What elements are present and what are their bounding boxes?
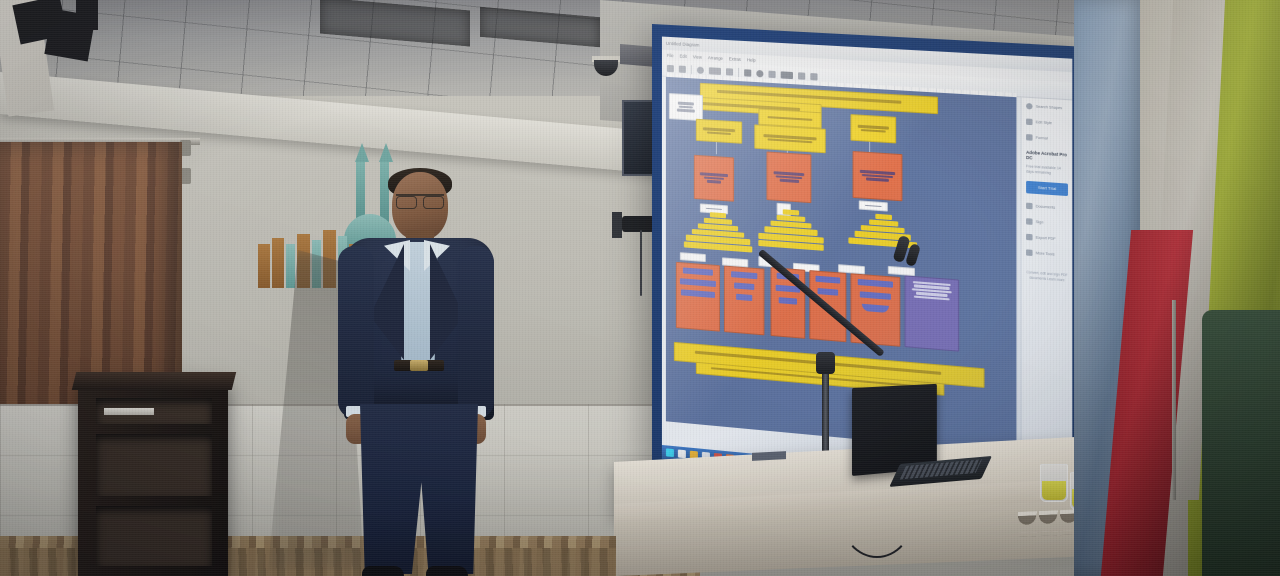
panel-row-search[interactable]: Search Shapes [1026, 103, 1068, 112]
diagram-node[interactable] [853, 151, 903, 201]
hanging-bracket [76, 0, 98, 30]
app-right-panel[interactable]: Search Shapes Edit Style Format Adobe Ac… [1021, 97, 1073, 459]
waypoints-icon[interactable] [769, 70, 776, 77]
redo-icon[interactable] [679, 65, 686, 72]
export-icon [1026, 233, 1032, 240]
shelf-compartment [96, 506, 212, 566]
more-icon [1026, 249, 1032, 256]
drink-cup[interactable] [1040, 464, 1068, 502]
pyramid-cluster[interactable] [684, 210, 752, 255]
power-cable [840, 474, 914, 558]
undo-icon[interactable] [667, 64, 674, 71]
department-column[interactable] [905, 275, 960, 351]
connector-label[interactable] [859, 200, 888, 211]
panel-row-style[interactable]: Edit Style [1026, 119, 1068, 128]
diagram-node[interactable] [754, 124, 825, 153]
arm-left [338, 246, 374, 418]
flag-pole [1172, 300, 1176, 500]
search-icon [1026, 103, 1032, 110]
signature-icon [1026, 218, 1032, 225]
panel-row-label: Edit Style [1036, 120, 1052, 125]
photo-scene: Untitled Diagram File Edit View Arrange … [0, 0, 1280, 576]
panel-row-label: Search Shapes [1036, 105, 1062, 111]
menu-view[interactable]: View [693, 54, 702, 60]
fill-color-icon[interactable] [709, 67, 721, 75]
shelf-top [72, 372, 236, 390]
shelf-item [104, 408, 154, 415]
menu-extras[interactable]: Extras [729, 56, 741, 62]
connector-label[interactable] [680, 252, 706, 262]
department-column[interactable] [724, 266, 764, 336]
bracket-plate [612, 212, 622, 238]
shoe-left [362, 566, 404, 576]
panel-link-label: Documents [1036, 204, 1056, 210]
cup-contents [1042, 481, 1066, 500]
connection-icon[interactable] [756, 69, 763, 76]
menu-help[interactable]: Help [747, 57, 756, 63]
department-column[interactable] [676, 262, 720, 332]
panel-link-more[interactable]: More Tools [1026, 249, 1068, 258]
zoom-icon[interactable] [697, 66, 704, 73]
diagram-node[interactable] [766, 151, 811, 203]
shape-palette[interactable] [669, 93, 703, 121]
panel-link-label: Export PDF [1036, 235, 1056, 241]
start-icon[interactable] [666, 448, 674, 457]
search-icon[interactable] [678, 449, 686, 458]
panel-row-label: Format [1036, 136, 1048, 141]
presenter [336, 168, 496, 576]
panel-link-export[interactable]: Export PDF [1026, 233, 1068, 242]
diagram-connector [716, 142, 717, 154]
arm-right [458, 246, 494, 418]
panel-heading: Adobe Acrobat Pro DC [1026, 150, 1068, 163]
menu-file[interactable]: File [667, 52, 674, 57]
shelf-compartment [96, 434, 212, 496]
shadow-icon[interactable] [744, 69, 751, 76]
microphone-pole [822, 360, 829, 460]
app-title: Untitled Diagram [666, 41, 699, 48]
panel-link-label: More Tools [1036, 251, 1055, 257]
shoe-right [426, 566, 468, 576]
dark-green-chair [1202, 310, 1280, 576]
eyeglasses [396, 194, 444, 207]
diagram-node[interactable] [696, 119, 742, 144]
diagram-node[interactable] [850, 114, 896, 143]
menu-arrange[interactable]: Arrange [708, 55, 723, 61]
panel-footer: Convert, edit and sign PDF documents Lea… [1026, 270, 1068, 284]
format-icon [1026, 134, 1032, 141]
connector-label[interactable] [888, 266, 915, 276]
wall-bracket [622, 216, 656, 232]
panel-subtext: Free trial available 14 days remaining [1026, 164, 1068, 178]
panel-link-label: Sign [1036, 219, 1044, 224]
document-icon [1026, 202, 1032, 209]
pyramid-cluster[interactable] [758, 208, 823, 259]
table-icon[interactable] [810, 73, 817, 81]
insert-icon[interactable] [798, 72, 805, 80]
style-icon[interactable] [781, 71, 793, 79]
lock-icon [1026, 119, 1032, 126]
panel-link-sign[interactable]: Sign [1026, 218, 1068, 227]
diagram-canvas[interactable] [666, 77, 1017, 454]
toolbar-separator [691, 65, 692, 74]
trousers [360, 404, 478, 574]
menu-edit[interactable]: Edit [680, 53, 687, 58]
belt-buckle [410, 360, 428, 371]
line-color-icon[interactable] [726, 68, 733, 75]
start-trial-button[interactable]: Start Trial [1026, 180, 1068, 195]
bracket-cable [640, 230, 642, 296]
panel-link-documents[interactable]: Documents [1026, 202, 1068, 211]
toolbar-separator [738, 67, 739, 76]
microphone-clutch [816, 352, 835, 374]
diagram-node[interactable] [694, 155, 734, 202]
panel-row-format[interactable]: Format [1026, 134, 1068, 143]
